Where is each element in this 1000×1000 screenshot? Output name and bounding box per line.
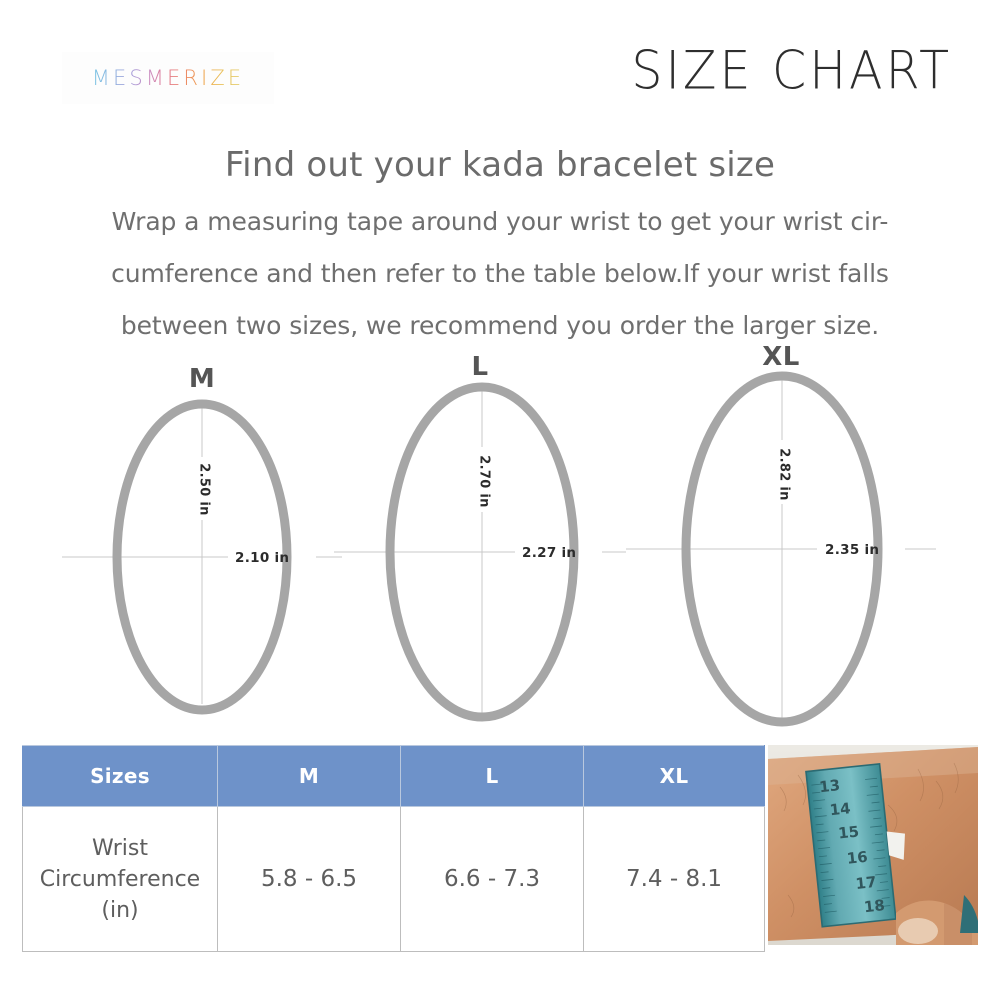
bracelet-width-label-m: 2.10 in bbox=[235, 550, 289, 566]
wrist-measuring-photo: 13 14 15 16 17 18 bbox=[768, 745, 978, 945]
table-header-l: L bbox=[401, 746, 584, 807]
bracelet-width-label-l: 2.27 in bbox=[522, 545, 576, 561]
tape-mark: 18 bbox=[863, 896, 886, 916]
bracelet-height-label-l: 2.70 in bbox=[477, 455, 492, 507]
row-label-line: (in) bbox=[24, 895, 216, 926]
tape-mark: 14 bbox=[829, 799, 852, 819]
bracelet-diagram-m: M 2.50 in 2.10 in bbox=[58, 352, 346, 742]
tape-mark: 15 bbox=[837, 822, 860, 842]
bracelet-width-label-xl: 2.35 in bbox=[825, 542, 879, 558]
tape-mark: 17 bbox=[855, 873, 878, 893]
intro-body-line: cumference and then refer to the table b… bbox=[50, 248, 950, 300]
size-table: Sizes M L XL Wrist Circumference (in) 5.… bbox=[22, 745, 765, 952]
bracelet-height-label-xl: 2.82 in bbox=[777, 448, 792, 500]
intro-body: Wrap a measuring tape around your wrist … bbox=[50, 196, 950, 352]
bracelet-diagram-xl: XL 2.82 in 2.35 in bbox=[622, 352, 940, 742]
table-cell-l: 6.6 - 7.3 bbox=[401, 807, 584, 952]
tape-mark: 13 bbox=[818, 776, 841, 796]
table-cell-m: 5.8 - 6.5 bbox=[218, 807, 401, 952]
row-label-line: Circumference bbox=[24, 864, 216, 895]
table-header-sizes: Sizes bbox=[23, 746, 218, 807]
table-row: Wrist Circumference (in) 5.8 - 6.5 6.6 -… bbox=[23, 807, 765, 952]
brand-logo: MESMERIZE bbox=[48, 42, 286, 114]
table-row-label: Wrist Circumference (in) bbox=[23, 807, 218, 952]
bracelet-oval-m-svg bbox=[58, 352, 346, 742]
logo-card: MESMERIZE bbox=[62, 52, 274, 104]
intro-body-line: Wrap a measuring tape around your wrist … bbox=[50, 196, 950, 248]
logo-text: MESMERIZE bbox=[92, 66, 244, 90]
tape-mark: 16 bbox=[846, 848, 869, 868]
bracelet-oval-l-svg bbox=[330, 352, 630, 742]
table-cell-xl: 7.4 - 8.1 bbox=[584, 807, 765, 952]
bracelet-oval-xl-svg bbox=[622, 352, 940, 742]
row-label-line: Wrist bbox=[24, 833, 216, 864]
table-header-row: Sizes M L XL bbox=[23, 746, 765, 807]
wrist-photo-illustration: 13 14 15 16 17 18 bbox=[768, 745, 978, 945]
intro-block: Find out your kada bracelet size Wrap a … bbox=[50, 142, 950, 352]
bracelet-diagram-l: L 2.70 in 2.27 in bbox=[330, 352, 630, 742]
intro-heading: Find out your kada bracelet size bbox=[50, 142, 950, 188]
table-header-m: M bbox=[218, 746, 401, 807]
bracelet-height-label-m: 2.50 in bbox=[197, 463, 212, 515]
page-header: MESMERIZE SIZE CHART bbox=[0, 0, 1000, 130]
page-title: SIZE CHART bbox=[631, 40, 952, 102]
bracelet-diagrams: M 2.50 in 2.10 in L 2.70 in 2.27 in XL bbox=[0, 352, 1000, 742]
table-header-xl: XL bbox=[584, 746, 765, 807]
